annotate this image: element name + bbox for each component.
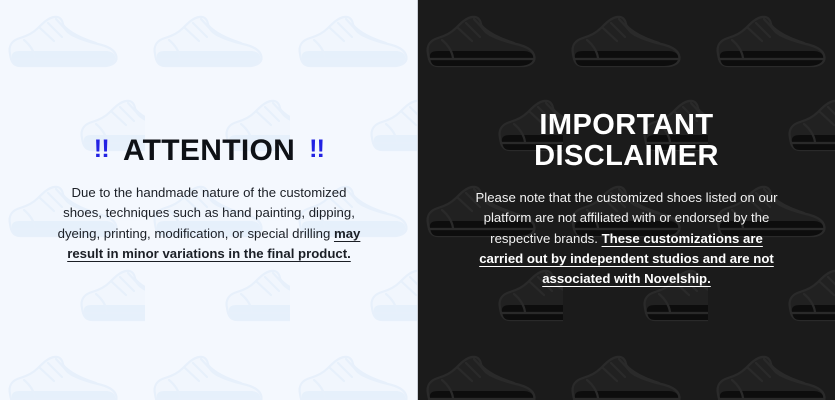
disclaimer-heading-line1: IMPORTANT <box>432 110 821 141</box>
disclaimer-heading-line2: DISCLAIMER <box>432 141 821 172</box>
attention-heading: !! ATTENTION !! <box>14 136 404 166</box>
attention-panel-content: !! ATTENTION !! Due to the handmade natu… <box>0 136 418 265</box>
attention-title-text: ATTENTION <box>123 136 295 166</box>
disclaimer-panel-content: IMPORTANT DISCLAIMER Please note that th… <box>418 110 835 290</box>
double-exclamation-left-icon: !! <box>94 137 109 162</box>
panel-divider <box>417 0 418 400</box>
attention-body-normal: Due to the handmade nature of the custom… <box>58 185 355 241</box>
disclaimer-body-copy: Please note that the customized shoes li… <box>467 188 787 290</box>
double-exclamation-right-icon: !! <box>309 137 324 162</box>
disclaimer-panel: IMPORTANT DISCLAIMER Please note that th… <box>418 0 835 400</box>
attention-body-copy: Due to the handmade nature of the custom… <box>54 183 364 265</box>
disclaimer-heading: IMPORTANT DISCLAIMER <box>432 110 821 171</box>
attention-panel: !! ATTENTION !! Due to the handmade natu… <box>0 0 418 400</box>
promo-banner: !! ATTENTION !! Due to the handmade natu… <box>0 0 835 400</box>
